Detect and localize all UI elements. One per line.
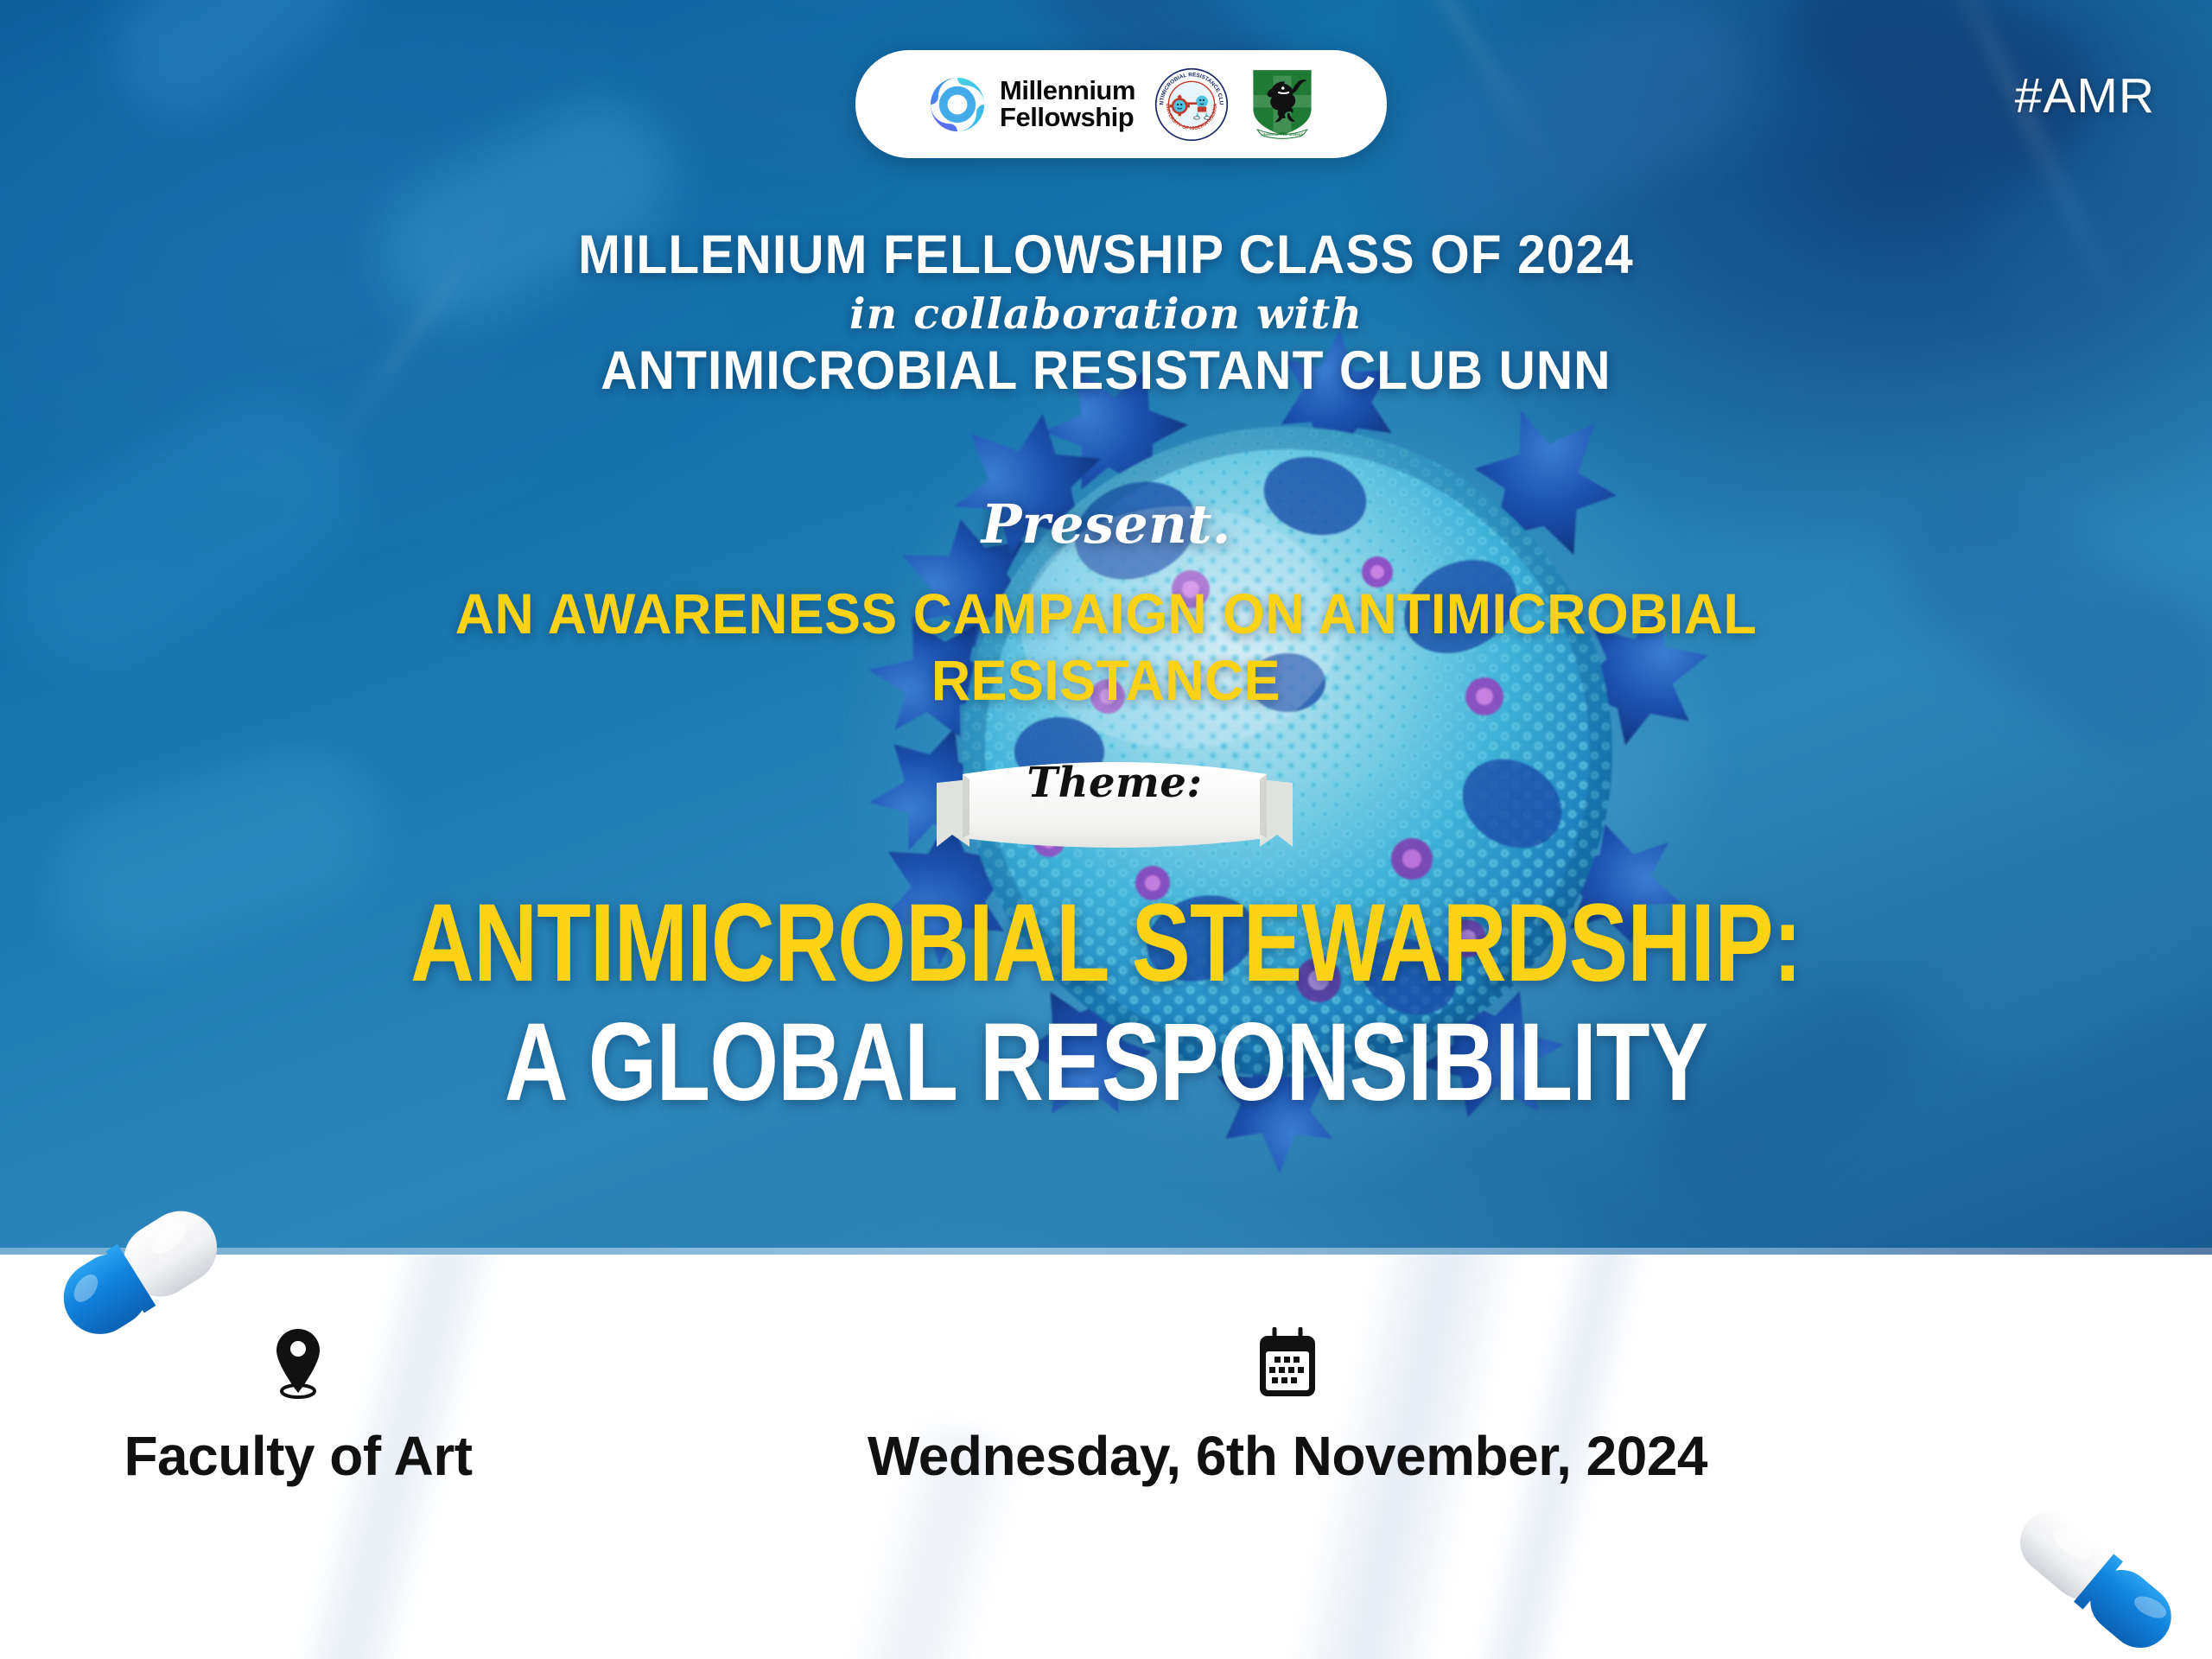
pill-capsule-right-icon bbox=[2012, 1510, 2212, 1659]
header-line-3-club: ANTIMICROBIAL RESISTANT CLUB UNN bbox=[78, 342, 2135, 399]
theme-title-line-1: ANTIMICROBIAL STEWARDSHIP: bbox=[401, 888, 1811, 999]
millennium-fellowship-wordmark: Millennium Fellowship bbox=[1000, 78, 1135, 130]
campaign-headline: AN AWARENESS CAMPAIGN ON ANTIMICROBIAL R… bbox=[327, 581, 1886, 713]
theme-ribbon-banner: Theme: bbox=[931, 745, 1298, 855]
venue-block: Faculty of Art bbox=[86, 1327, 510, 1488]
svg-text:UNIVERSITY OF NIGERIA: UNIVERSITY OF NIGERIA bbox=[1262, 132, 1303, 137]
unn-shield-icon: UNIVERSITY OF NIGERIA bbox=[1248, 67, 1317, 142]
header-line-1: MILLENIUM FELLOWSHIP CLASS OF 2024 bbox=[78, 226, 2135, 283]
antimicrobial-resistance-club-seal-icon: ANTIMICROBIAL RESISTANCE CLUB UNIVERSITY… bbox=[1154, 67, 1229, 142]
date-label: Wednesday, 6th November, 2024 bbox=[743, 1424, 1832, 1488]
theme-title: ANTIMICROBIAL STEWARDSHIP: A GLOBAL RESP… bbox=[225, 888, 1987, 1118]
millennium-fellowship-logo: Millennium Fellowship bbox=[925, 73, 1135, 137]
footer-panel: Faculty of Art bbox=[0, 1255, 2212, 1659]
panel-divider bbox=[0, 1248, 2212, 1255]
calendar-icon bbox=[743, 1327, 1832, 1400]
pill-capsule-left-icon bbox=[43, 1191, 251, 1346]
venue-label: Faculty of Art bbox=[86, 1424, 510, 1488]
date-block: Wednesday, 6th November, 2024 bbox=[743, 1327, 1832, 1488]
hashtag-amr: #AMR bbox=[2015, 67, 2155, 124]
present-label: Present. bbox=[0, 493, 2212, 556]
event-poster: Millennium Fellowship ANTIMICROBIAL RESI… bbox=[0, 0, 2212, 1659]
header-block: MILLENIUM FELLOWSHIP CLASS OF 2024 in co… bbox=[0, 226, 2212, 399]
theme-ribbon-label: Theme: bbox=[931, 759, 1298, 807]
millennium-spiral-icon bbox=[925, 73, 989, 137]
header-line-2-collaboration: in collaboration with bbox=[0, 289, 2212, 339]
theme-title-line-2: A GLOBAL RESPONSIBILITY bbox=[401, 1007, 1811, 1118]
millennium-line-2: Fellowship bbox=[1000, 102, 1134, 132]
logo-bar: Millennium Fellowship ANTIMICROBIAL RESI… bbox=[855, 50, 1387, 158]
